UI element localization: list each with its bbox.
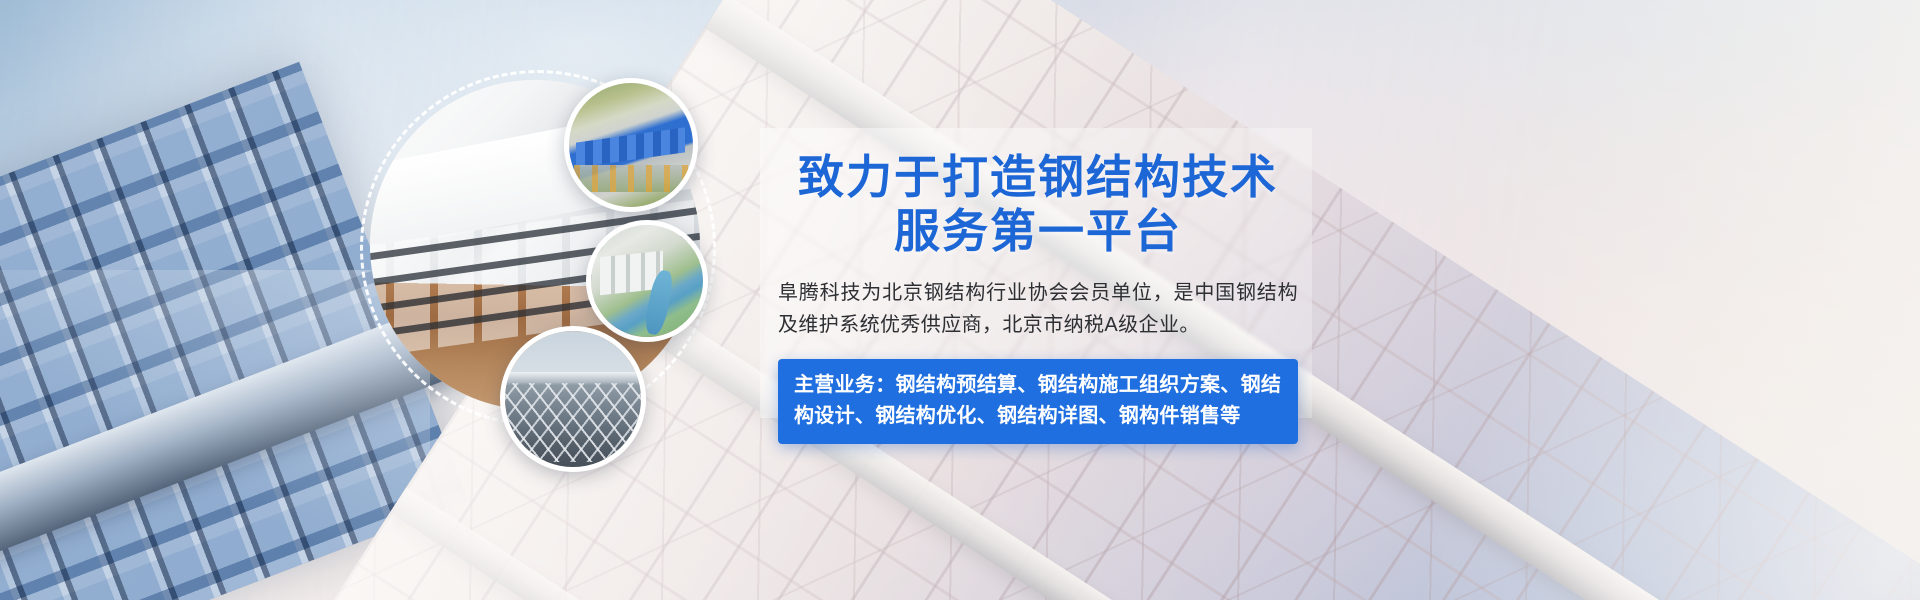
secondary-photo-circle-1	[564, 78, 698, 212]
campus-river-photo	[591, 225, 703, 337]
banner-headline: 致力于打造钢结构技术 服务第一平台	[778, 150, 1298, 259]
hero-banner: 致力于打造钢结构技术 服务第一平台 阜腾科技为北京钢结构行业协会会员单位，是中国…	[0, 0, 1920, 600]
banner-description: 阜腾科技为北京钢结构行业协会会员单位，是中国钢结构及维护系统优秀供应商，北京市纳…	[778, 277, 1298, 342]
photo-collage	[352, 52, 772, 472]
banner-content: 致力于打造钢结构技术 服务第一平台 阜腾科技为北京钢结构行业协会会员单位，是中国…	[778, 150, 1298, 444]
steel-truss-photo	[505, 331, 641, 467]
secondary-photo-circle-2	[586, 220, 708, 342]
business-scope-badge: 主营业务：钢结构预结算、钢结构施工组织方案、钢结构设计、钢结构优化、钢结构详图、…	[778, 359, 1298, 444]
secondary-photo-circle-3	[500, 326, 646, 472]
headline-line-2: 服务第一平台	[778, 204, 1298, 258]
headline-line-1: 致力于打造钢结构技术	[798, 150, 1278, 204]
aerial-plant-photo	[569, 83, 693, 207]
